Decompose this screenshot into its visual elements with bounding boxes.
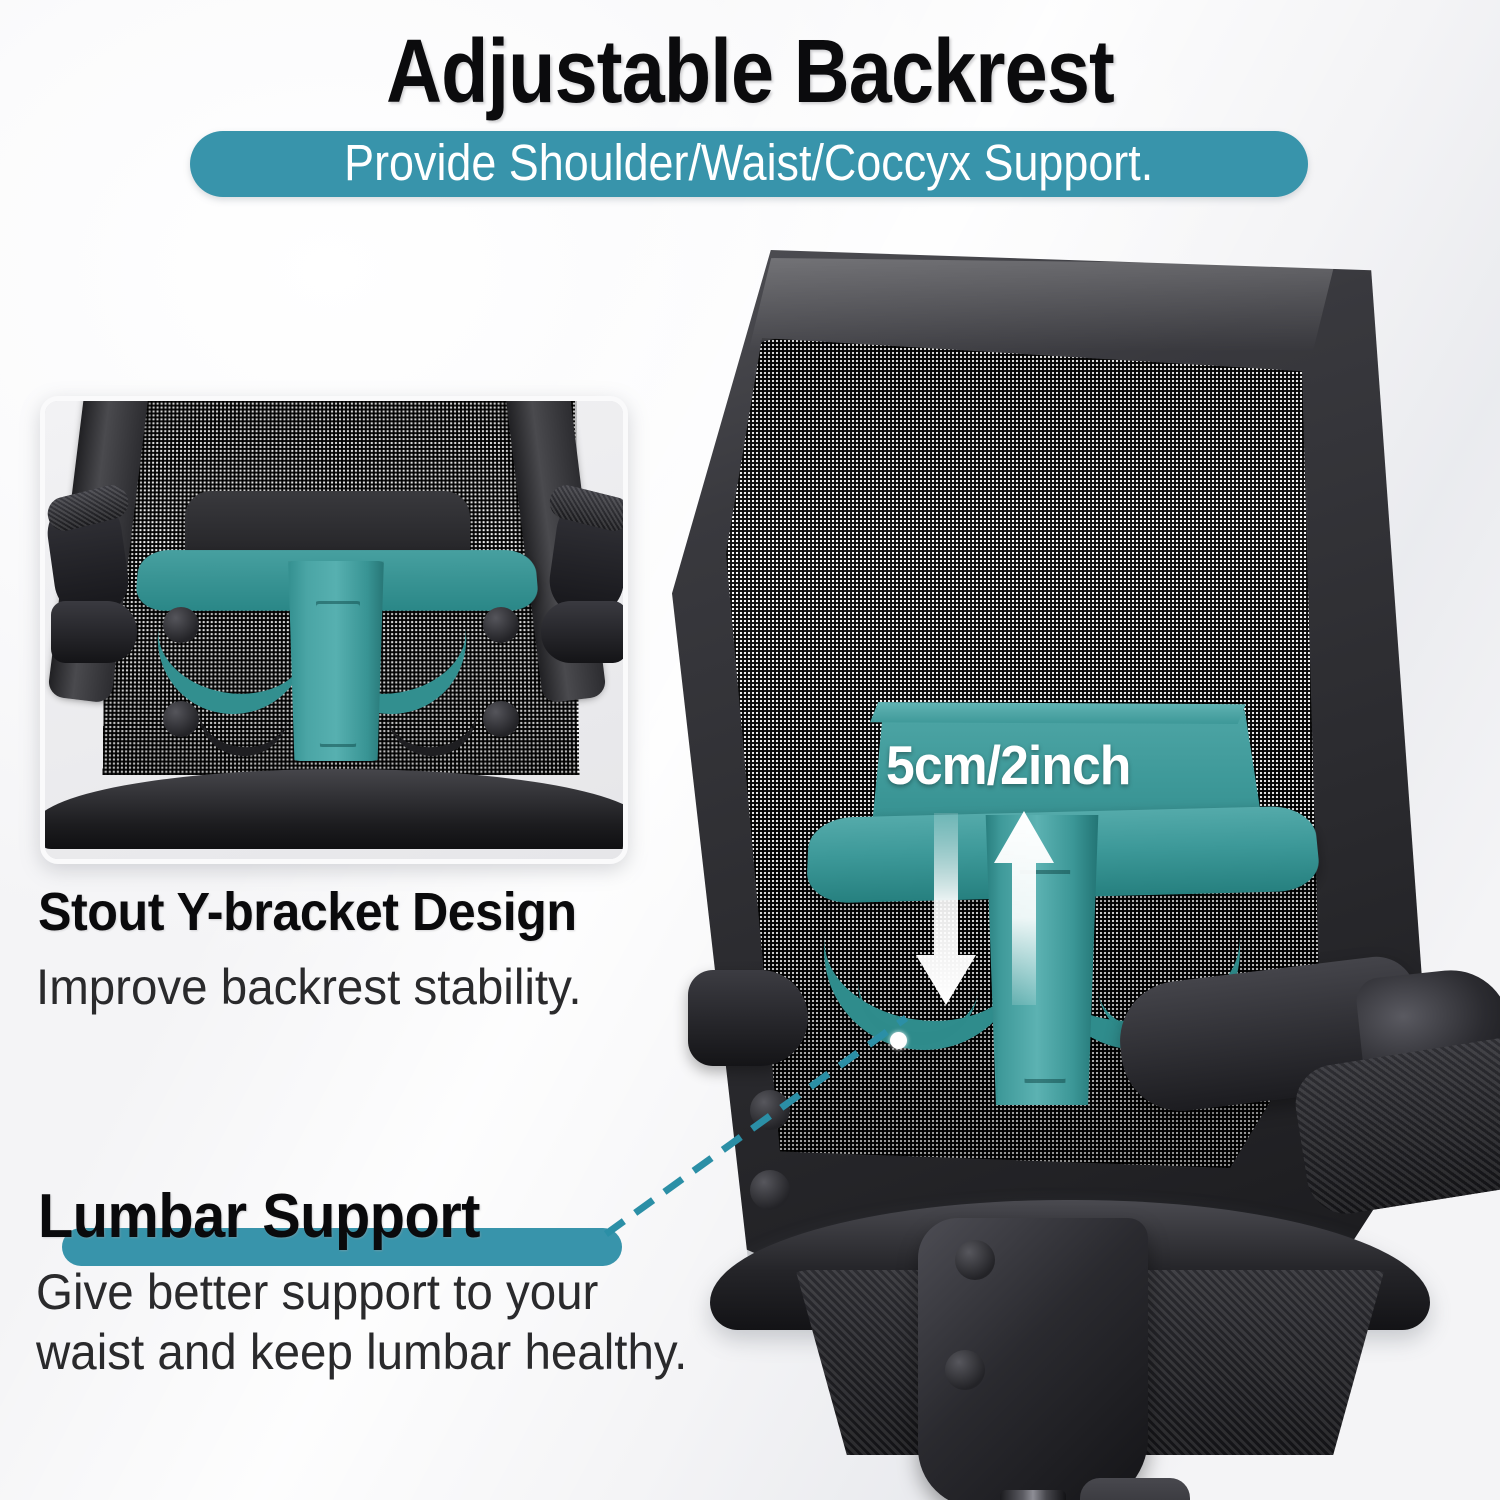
gas-lift-cylinder xyxy=(1000,1490,1066,1500)
subtitle-text: Provide Shoulder/Waist/Coccyx Support. xyxy=(344,137,1153,192)
frame-knob-left-upper xyxy=(750,1090,790,1130)
infographic-canvas: Adjustable Backrest Provide Shoulder/Wai… xyxy=(0,0,1500,1500)
y-bracket-detail-photo xyxy=(40,396,628,864)
mechanism-knob-upper xyxy=(955,1240,995,1280)
lumbar-support-pad-top-edge xyxy=(858,702,1262,724)
inset-pivot-right xyxy=(541,601,627,663)
adjustment-arrows xyxy=(890,805,1090,1035)
subtitle-badge: Provide Shoulder/Waist/Coccyx Support. xyxy=(190,131,1308,197)
tilt-tension-knob[interactable] xyxy=(1080,1478,1190,1500)
adjustment-range-label: 5cm/2inch xyxy=(886,735,1130,795)
subtitle-pill: Provide Shoulder/Waist/Coccyx Support. xyxy=(190,131,1308,197)
inset-y-stem-groove xyxy=(313,601,363,747)
feature-title-lumbar-support: Lumbar Support xyxy=(38,1182,480,1252)
office-chair-photo: 5cm/2inch xyxy=(600,210,1500,1500)
inset-seat-bar xyxy=(40,769,628,849)
inset-knob-bottom-left xyxy=(163,701,199,737)
feature-body-y-bracket: Improve backrest stability. xyxy=(36,958,582,1016)
page-title: Adjustable Backrest xyxy=(105,20,1395,124)
inset-knob-bottom-right xyxy=(483,701,519,737)
armrest-pivot-left xyxy=(688,970,808,1066)
inset-pivot-left xyxy=(51,601,137,663)
mechanism-knob-lower xyxy=(945,1350,985,1390)
frame-knob-left-lower xyxy=(750,1170,790,1210)
inset-scene xyxy=(45,401,623,859)
inset-knob-top-left xyxy=(163,607,199,643)
arrow-up-icon xyxy=(994,811,1054,1005)
feature-title-y-bracket: Stout Y-bracket Design xyxy=(38,882,577,942)
arrow-down-icon xyxy=(916,813,976,1005)
inset-knob-top-right xyxy=(483,607,519,643)
leader-endpoint-dot xyxy=(890,1032,907,1049)
feature-body-lumbar-support: Give better support to your waist and ke… xyxy=(36,1262,687,1382)
